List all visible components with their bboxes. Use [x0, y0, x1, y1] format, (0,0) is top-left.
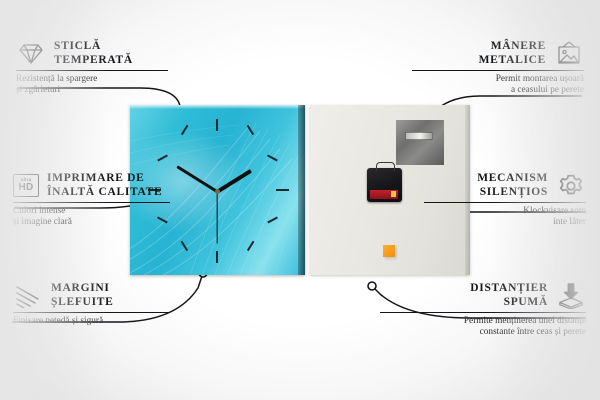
feature-header: MARGINI ȘLEFUITE	[13, 282, 193, 309]
feature-divider	[380, 312, 586, 313]
picture-hanger-icon	[554, 41, 584, 66]
feature-title-line1: MÂNERE	[479, 40, 546, 54]
feature-header: DISTANȚIER SPUMĂ	[380, 282, 586, 309]
feature-title-line2: TEMPERATĂ	[54, 54, 133, 68]
metal-hanger-plate	[396, 120, 444, 165]
feature-title-line2: SILENȚIOS	[477, 186, 548, 200]
feature-header: ultra HD IMPRIMARE DE ÎNALTĂ CALITATE	[13, 172, 193, 199]
mechanism-hook	[376, 162, 395, 171]
feature-header: MECANISM SILENȚIOS	[424, 172, 586, 199]
feature-sub-line2: a ceasului pe perete	[412, 85, 584, 96]
feature-title-line1: DISTANȚIER	[470, 282, 548, 296]
feature-sub-line1: Klockvisare som	[424, 206, 586, 217]
feature-title-line1: STICLĂ	[54, 40, 133, 54]
feature-sub-line1: Finisare netedă și sigură	[13, 316, 193, 327]
feature-divider	[16, 70, 168, 71]
feature-sub-line1: Culori intense	[13, 206, 193, 217]
feature-header: MÂNERE METALICE	[412, 40, 584, 67]
feature-sub-line2: și zgârieturi	[16, 85, 186, 96]
feature-high-quality-print: ultra HD IMPRIMARE DE ÎNALTĂ CALITATE Cu…	[13, 172, 193, 228]
hanger-slot	[405, 132, 433, 140]
feature-title-line1: MARGINI	[51, 282, 113, 296]
feature-divider	[13, 312, 170, 313]
feature-title-line2: SPUMĂ	[470, 296, 548, 310]
feature-foam-spacer: DISTANȚIER SPUMĂ Permite menținerea unei…	[380, 282, 586, 338]
feature-sub-line1: Permite menținerea unei distanțe	[380, 316, 586, 327]
bevel-lines-icon	[13, 284, 43, 308]
feature-silent-mechanism: MECANISM SILENȚIOS Klockvisare som inte …	[424, 172, 586, 228]
feature-title-line2: METALICE	[479, 54, 546, 68]
feature-title-line2: ȘLEFUITE	[51, 296, 113, 310]
feature-metal-handles: MÂNERE METALICE Permit montarea ușoară a…	[412, 40, 584, 96]
ultra-hd-icon: ultra HD	[13, 174, 39, 197]
foam-spacer-pad	[383, 245, 395, 257]
hotspot-spacer	[368, 282, 376, 290]
feature-sub-line1: Rezistență la spargere	[16, 74, 186, 85]
feature-title-line1: IMPRIMARE DE	[47, 172, 162, 186]
feature-header: STICLĂ TEMPERATĂ	[16, 40, 186, 67]
feature-divider	[412, 70, 584, 71]
battery-terminal	[391, 191, 396, 197]
feature-divider	[13, 202, 170, 203]
feature-tempered-glass: STICLĂ TEMPERATĂ Rezistență la spargere …	[16, 40, 186, 96]
feature-sub-line2: constante între ceas și perete	[380, 327, 586, 338]
feature-sub-line2: și imagine clară	[13, 217, 193, 228]
clock-second-hand	[216, 192, 217, 244]
diamond-icon	[16, 42, 46, 66]
feature-title-line2: ÎNALTĂ CALITATE	[47, 186, 162, 200]
press-down-icon	[556, 283, 586, 309]
feature-title-line1: MECANISM	[477, 172, 548, 186]
feature-divider	[424, 202, 586, 203]
clock-center-cap	[215, 189, 220, 194]
feature-sub-line2: inte låter	[424, 217, 586, 228]
feature-polished-edges: MARGINI ȘLEFUITE Finisare netedă și sigu…	[13, 282, 193, 327]
infographic-canvas: STICLĂ TEMPERATĂ Rezistență la spargere …	[0, 0, 600, 400]
gear-icon	[556, 173, 586, 199]
battery	[370, 190, 398, 199]
clock-mechanism	[367, 168, 402, 202]
feature-sub-line1: Permit montarea ușoară	[412, 74, 584, 85]
ultra-hd-main-label: HD	[18, 183, 33, 193]
